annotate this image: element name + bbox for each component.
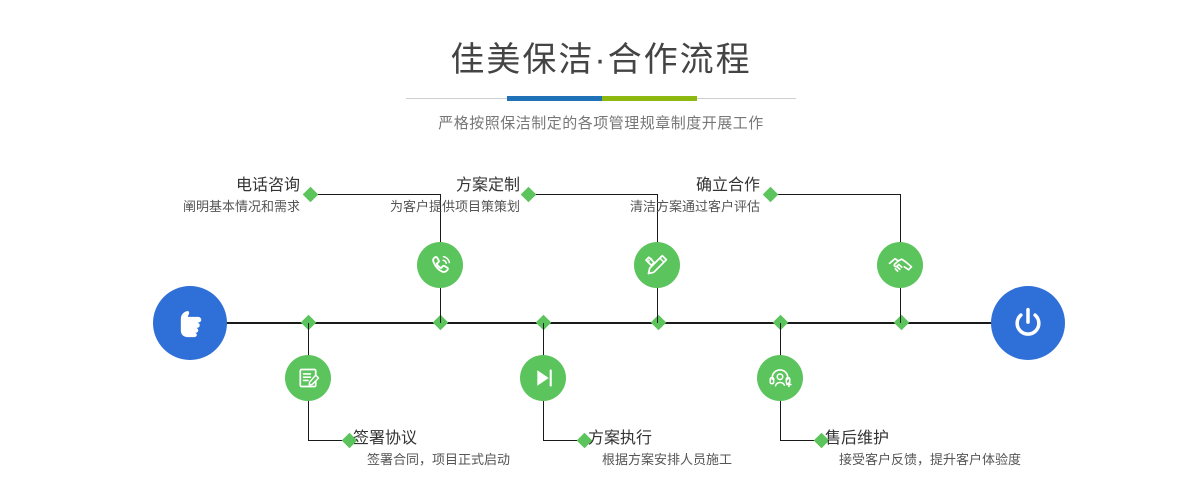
step-icon-document-edit[interactable] — [285, 355, 331, 401]
axis-marker — [894, 315, 910, 331]
leader-line — [770, 194, 901, 195]
headset-add-icon — [767, 365, 793, 391]
timeline-start-node[interactable] — [153, 286, 227, 360]
step-icon-handshake[interactable] — [877, 242, 923, 288]
divider-green-segment — [602, 96, 697, 101]
timeline-end-node[interactable] — [991, 286, 1065, 360]
step-description: 接受客户反馈，提升客户体验度 — [839, 450, 1195, 470]
process-timeline: 电话咨询 阐明基本情况和需求 签署协议 签署合同，项目正式启动 — [0, 150, 1202, 502]
document-edit-icon — [295, 365, 321, 391]
pencil-ruler-icon — [644, 252, 670, 278]
step-icon-pencil-ruler[interactable] — [634, 242, 680, 288]
axis-marker — [651, 315, 667, 331]
step-title: 确立合作 — [460, 175, 760, 197]
divider-blue-segment — [507, 96, 602, 101]
step-icon-headset-add[interactable] — [757, 355, 803, 401]
page-subtitle: 严格按照保洁制定的各项管理规章制度开展工作 — [0, 114, 1202, 134]
phone-call-icon — [427, 252, 454, 279]
step-description: 清洁方案通过客户评估 — [460, 197, 760, 217]
step-icon-play-skip[interactable] — [520, 355, 566, 401]
step-label-5: 确立合作 清洁方案通过客户评估 — [460, 175, 760, 217]
page-title: 佳美保洁·合作流程 — [0, 38, 1202, 82]
leader-marker — [763, 187, 779, 203]
power-icon — [1008, 303, 1048, 343]
pointing-hand-icon — [170, 303, 210, 343]
title-divider — [406, 96, 796, 102]
handshake-icon — [887, 252, 914, 279]
page-header: 佳美保洁·合作流程 严格按照保洁制定的各项管理规章制度开展工作 — [0, 0, 1202, 134]
play-skip-icon — [530, 365, 556, 391]
step-title: 售后维护 — [825, 428, 1195, 450]
step-icon-phone-call[interactable] — [417, 242, 463, 288]
step-label-6: 售后维护 接受客户反馈，提升客户体验度 — [825, 428, 1195, 470]
